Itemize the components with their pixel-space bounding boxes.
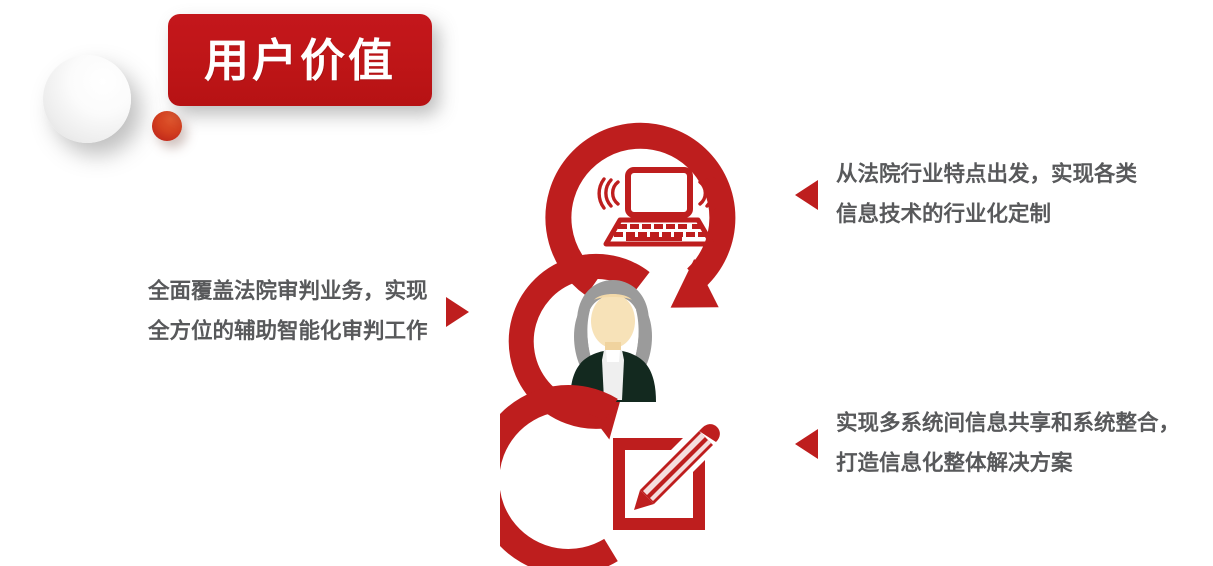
callout-bottom-text: 实现多系统间信息共享和系统整合， 打造信息化整体解决方案 xyxy=(836,404,1180,484)
callout-top-line2: 信息技术的行业化定制 xyxy=(836,202,1051,226)
callout-top-text: 从法院行业特点出发，实现各类 信息技术的行业化定制 xyxy=(836,155,1137,235)
cycle-diagram xyxy=(500,110,800,566)
laptop-wireless-icon xyxy=(599,170,719,244)
callout-left-text: 全面覆盖法院审判业务，实现 全方位的辅助智能化审判工作 xyxy=(148,272,428,352)
callout-bottom-line1: 实现多系统间信息共享和系统整合， xyxy=(836,411,1180,435)
white-sphere-decoration xyxy=(43,55,131,143)
triangle-right-icon xyxy=(446,297,469,327)
ring-top xyxy=(558,136,722,311)
callout-left-line1: 全面覆盖法院审判业务，实现 xyxy=(148,279,428,303)
red-dot-decoration xyxy=(152,111,182,141)
callout-left-line2: 全方位的辅助智能化审判工作 xyxy=(148,319,428,343)
callout-top-line1: 从法院行业特点出发，实现各类 xyxy=(836,162,1137,186)
triangle-left-icon xyxy=(795,429,818,459)
slide-canvas: 用户价值 xyxy=(0,0,1213,566)
callout-top: 从法院行业特点出发，实现各类 信息技术的行业化定制 xyxy=(795,155,1137,235)
edit-document-icon xyxy=(613,424,720,530)
triangle-left-icon xyxy=(795,180,818,210)
callout-bottom: 实现多系统间信息共享和系统整合， 打造信息化整体解决方案 xyxy=(795,404,1180,484)
judge-person-icon xyxy=(570,280,656,402)
callout-bottom-line2: 打造信息化整体解决方案 xyxy=(836,451,1073,475)
title-banner: 用户价值 xyxy=(168,14,432,106)
page-title: 用户价值 xyxy=(204,38,396,83)
ring-middle xyxy=(521,266,656,443)
callout-left: 全面覆盖法院审判业务，实现 全方位的辅助智能化审判工作 xyxy=(148,272,469,352)
